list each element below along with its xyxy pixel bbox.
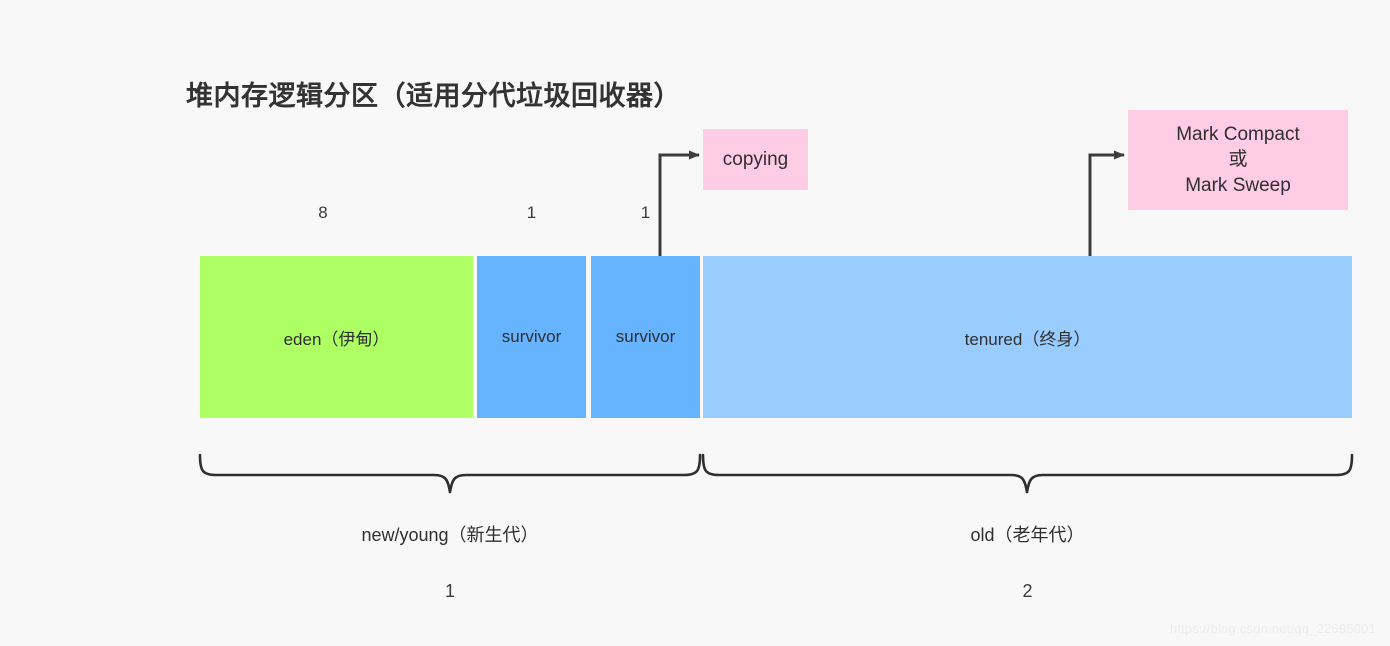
memory-block-tenured-label: tenured（终身） <box>965 325 1091 350</box>
memory-block-tenured: tenured（终身） <box>703 256 1352 418</box>
group-label-young-generation: new/young（新生代） <box>200 521 700 547</box>
connector-tenured-to-markcompact <box>1090 155 1124 256</box>
diagram-canvas: 堆内存逻辑分区（适用分代垃圾回收器） 8 1 1 eden（伊甸） surviv… <box>0 0 1390 646</box>
group-label-old-generation: old（老年代） <box>703 521 1352 547</box>
group-ratio-old-generation: 2 <box>703 581 1352 602</box>
memory-block-eden-label: eden（伊甸） <box>284 325 390 350</box>
annotation-box-copying: copying <box>703 129 808 190</box>
annotation-mark-sweep-label: Mark Sweep <box>1185 173 1291 199</box>
memory-block-survivor-2-label: survivor <box>616 327 676 347</box>
memory-block-survivor-1-label: survivor <box>502 327 562 347</box>
annotation-mark-compact-label: Mark Compact <box>1176 122 1300 148</box>
page-title: 堆内存逻辑分区（适用分代垃圾回收器） <box>186 74 681 113</box>
memory-block-survivor-2: survivor <box>591 256 700 418</box>
brace-old-generation <box>703 455 1352 492</box>
ratio-label-eden: 8 <box>200 203 446 223</box>
group-ratio-young-generation: 1 <box>200 581 700 602</box>
annotation-box-mark-compact: Mark Compact 或 Mark Sweep <box>1128 110 1348 210</box>
annotation-or-label: 或 <box>1228 147 1247 173</box>
memory-block-eden: eden（伊甸） <box>200 256 473 418</box>
brace-young-generation <box>200 455 700 492</box>
ratio-label-survivor1: 1 <box>477 203 586 223</box>
watermark-text: https://blog.csdn.net/qq_22695001 <box>1170 621 1376 636</box>
memory-block-survivor-1: survivor <box>477 256 586 418</box>
ratio-label-survivor2: 1 <box>591 203 700 223</box>
annotation-copying-label: copying <box>723 147 789 173</box>
